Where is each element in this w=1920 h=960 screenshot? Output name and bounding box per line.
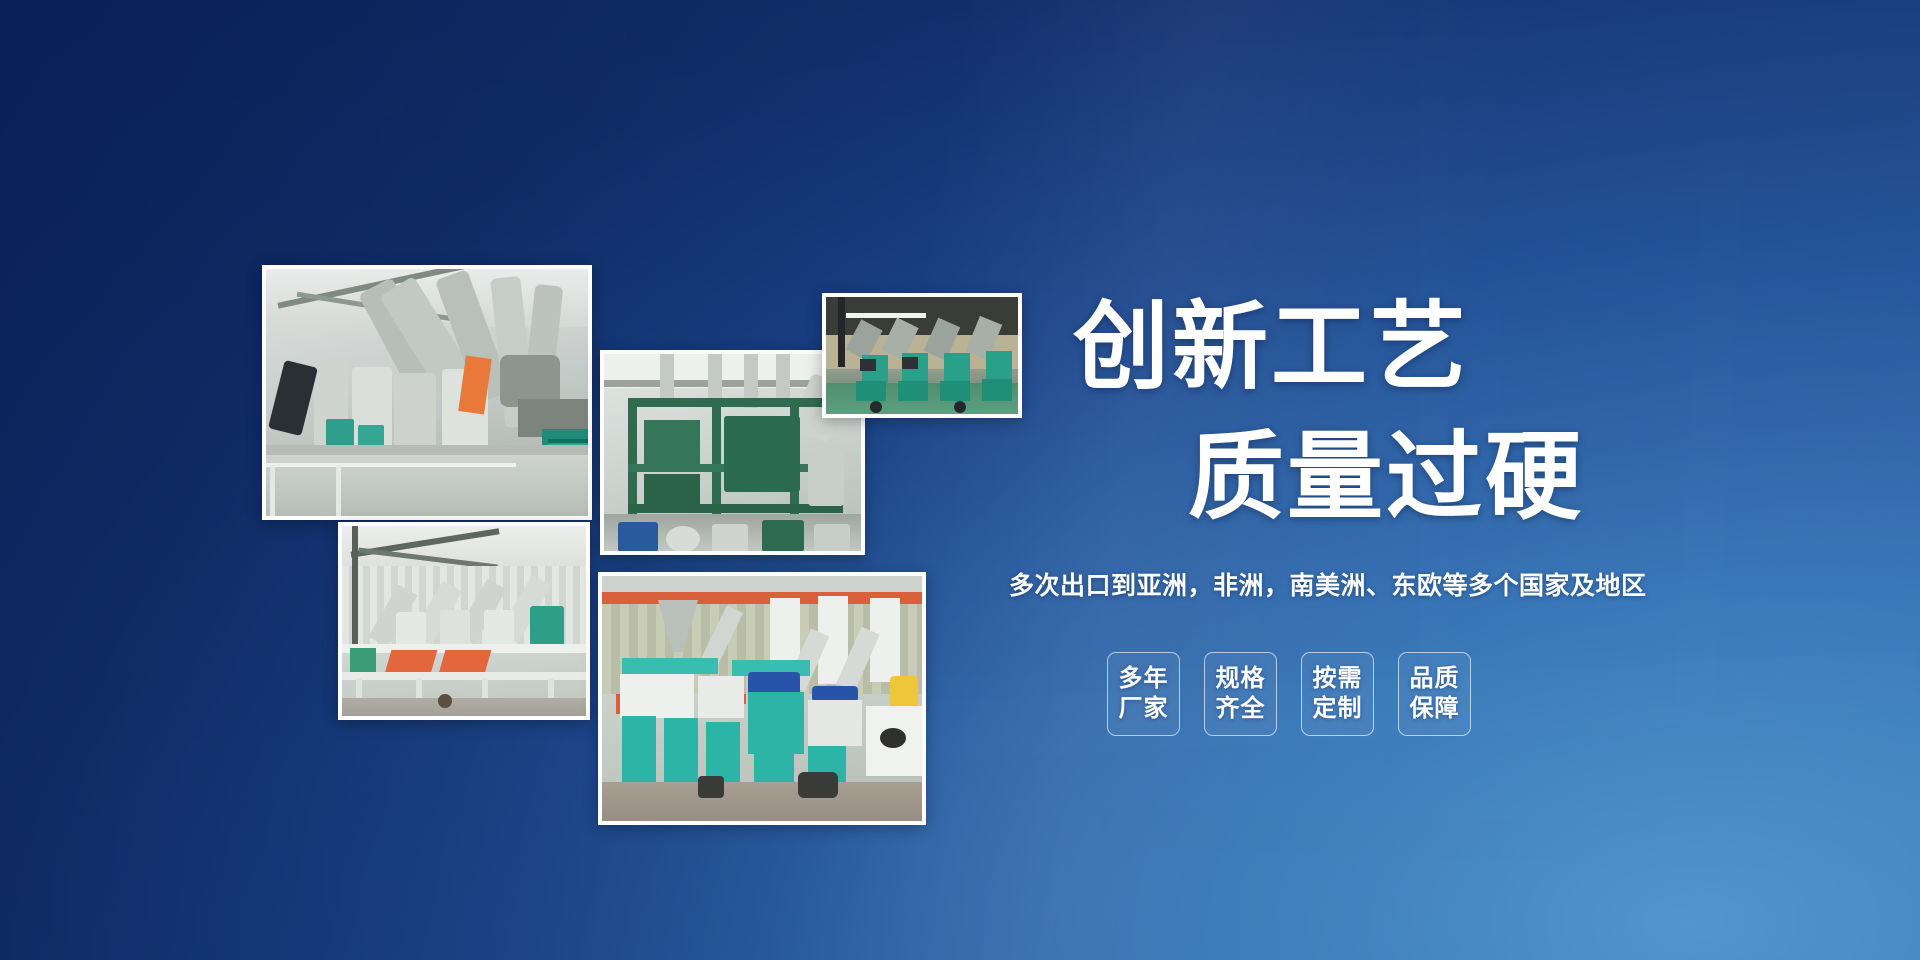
photo-elevated-platform-milling-plant xyxy=(338,522,590,720)
feature-badge-list: 多年 厂家 规格 齐全 按需 定制 品质 保障 xyxy=(1107,652,1471,736)
badge-line-2: 定制 xyxy=(1313,695,1363,723)
badge-line-1: 多年 xyxy=(1119,665,1169,693)
banner-subtitle: 多次出口到亚洲，非洲，南美洲、东欧等多个国家及地区 xyxy=(1009,566,1647,602)
promo-banner: 创新工艺 质量过硬 多次出口到亚洲，非洲，南美洲、东欧等多个国家及地区 多年 厂… xyxy=(0,0,1920,960)
headline-line-1: 创新工艺 xyxy=(1073,300,1469,396)
badge-line-1: 规格 xyxy=(1216,665,1266,693)
badge-line-2: 齐全 xyxy=(1216,695,1266,723)
headline-line-2: 质量过硬 xyxy=(1188,430,1584,526)
feature-badge-custom-made[interactable]: 按需 定制 xyxy=(1301,652,1374,736)
photo-teal-flour-mill-line-orange-beams xyxy=(598,572,926,825)
badge-line-2: 厂家 xyxy=(1119,695,1169,723)
feature-badge-years-manufacturer[interactable]: 多年 厂家 xyxy=(1107,652,1180,736)
photo-teal-mill-units-row-green-floor xyxy=(822,293,1022,418)
feature-badge-quality-assurance[interactable]: 品质 保障 xyxy=(1398,652,1471,736)
photo-grain-milling-line-with-ducting xyxy=(262,265,592,520)
badge-line-2: 保障 xyxy=(1410,695,1460,723)
feature-badge-full-specifications[interactable]: 规格 齐全 xyxy=(1204,652,1277,736)
badge-line-1: 按需 xyxy=(1313,665,1363,693)
badge-line-1: 品质 xyxy=(1410,665,1460,693)
